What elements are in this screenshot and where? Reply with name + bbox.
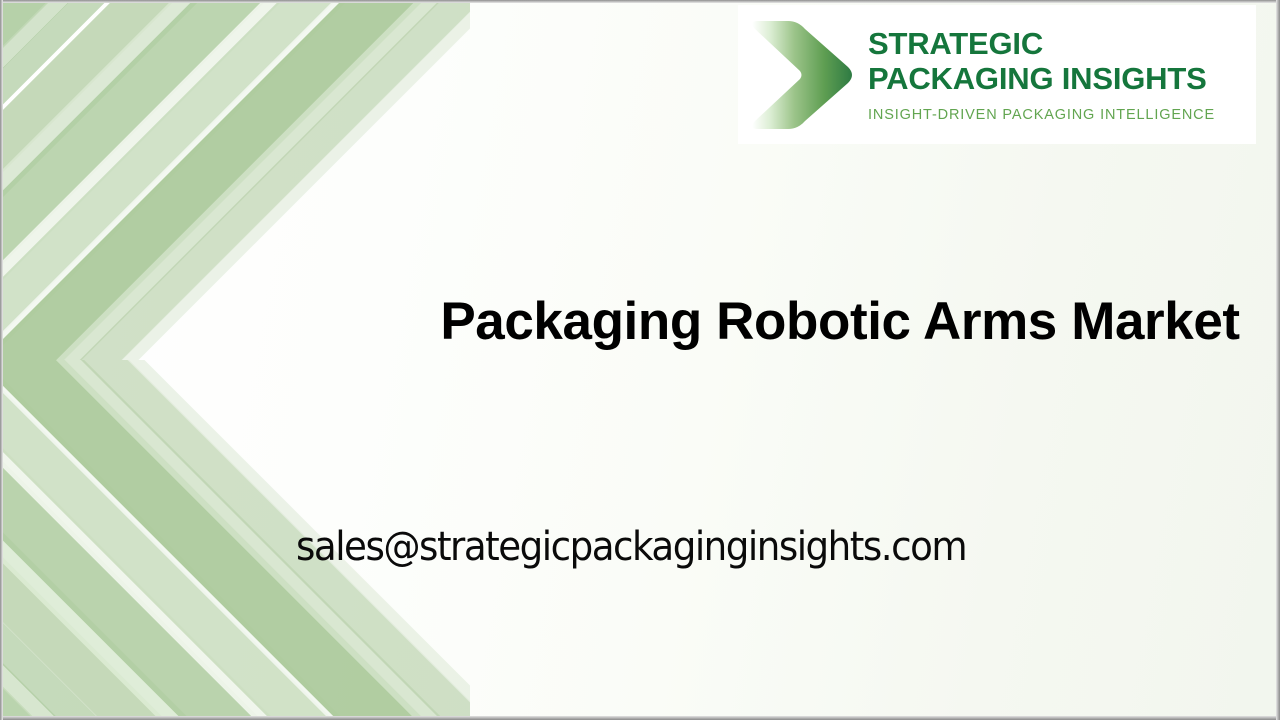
frame-border-top bbox=[0, 0, 1280, 3]
logo-tagline: INSIGHT-DRIVEN PACKAGING INTELLIGENCE bbox=[868, 107, 1256, 123]
slide-canvas: STRATEGIC PACKAGING INSIGHTS INSIGHT-DRI… bbox=[0, 0, 1280, 720]
frame-border-left bbox=[0, 0, 3, 720]
contact-email: sales@strategicpackaginginsights.com bbox=[296, 525, 966, 569]
frame-border-right bbox=[1276, 0, 1280, 720]
chevron-stripe-pattern bbox=[0, 0, 470, 720]
frame-border-bottom bbox=[0, 716, 1280, 720]
company-logo: STRATEGIC PACKAGING INSIGHTS INSIGHT-DRI… bbox=[738, 5, 1256, 144]
logo-line-1: STRATEGIC bbox=[868, 28, 1256, 59]
chevron-stripes-upper bbox=[0, 0, 470, 360]
logo-line-2: PACKAGING INSIGHTS bbox=[868, 63, 1256, 94]
page-title: Packaging Robotic Arms Market bbox=[430, 294, 1250, 350]
chevron-arrow-mark-icon bbox=[744, 13, 864, 137]
logo-wordmark: STRATEGIC PACKAGING INSIGHTS INSIGHT-DRI… bbox=[864, 26, 1256, 123]
